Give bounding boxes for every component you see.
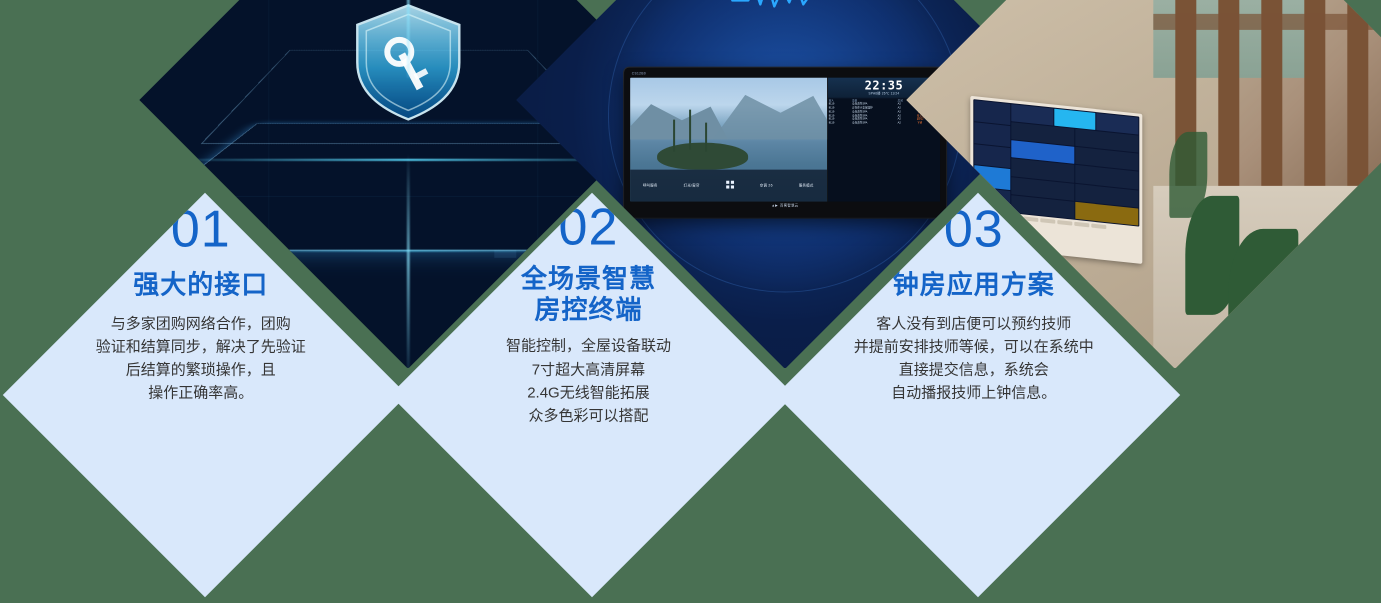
card-1-title-line: 强大的接口 (133, 269, 268, 300)
card-1-description: 与多家团购网络合作，团购 验证和结算同步，解决了先验证 后结算的繁琐操作，且 操… (96, 312, 306, 405)
card-2-title: 全场景智慧 房控终端 (521, 263, 656, 324)
panel-hardware-button[interactable] (1041, 218, 1056, 224)
card-2-desc-line: 智能控制，全屋设备联动 (506, 335, 671, 358)
table-row: 8119 全身养生SPA A2 下钟 (829, 122, 940, 125)
apps-grid-icon[interactable] (726, 182, 734, 191)
bar-button-1[interactable]: 灯光/窗帘 (684, 184, 700, 189)
card-3-title-line: 钟房应用方案 (893, 269, 1055, 300)
card-3-desc-line: 直接提交信息，系统会 (854, 358, 1094, 381)
room-control-tablet: CS12B0 呼叫服务 灯光/窗帘 (624, 68, 946, 218)
feature-diamonds-stage: CS12B0 呼叫服务 灯光/窗帘 (0, 0, 1381, 603)
card-1-desc-line: 与多家团购网络合作，团购 (96, 312, 306, 335)
heartbeat-icon (730, 0, 840, 17)
card-3-number: 03 (944, 203, 1004, 255)
clock-location: SPA6楼 (869, 92, 881, 96)
panel-screen (974, 100, 1140, 227)
card-2-title-line: 全场景智慧 (521, 263, 656, 294)
cell-item: 全身养生SPA (852, 122, 897, 125)
card-1-number: 01 (171, 203, 231, 255)
clock-date: 11/24 (891, 92, 900, 96)
panel-side-button[interactable] (975, 144, 1011, 169)
brand-mark-icon: ▲▶ (771, 204, 778, 208)
card-1-desc-line: 操作正确率高。 (96, 381, 306, 404)
panel-list-column (1076, 130, 1139, 226)
card-3-desc-line: 自动播报技师上钟信息。 (854, 381, 1094, 404)
card-3-title: 钟房应用方案 (893, 269, 1055, 300)
clock-temperature: 26℃ (882, 92, 890, 96)
wallpaper-scene: 呼叫服务 灯光/窗帘 空调 26 服 (630, 78, 827, 202)
panel-hardware-button[interactable] (1092, 224, 1107, 230)
cell-guest: 8119 (829, 122, 851, 125)
panel-side-button[interactable] (975, 101, 1011, 126)
panel-hardware-button[interactable] (1024, 217, 1039, 223)
panel-hardware-button[interactable] (1075, 222, 1090, 228)
card-1-desc-line: 后结算的繁琐操作，且 (96, 358, 306, 381)
brand-name: 百客智慧云 (780, 203, 798, 208)
bar-button-2[interactable]: 空调 26 (760, 184, 773, 189)
panel-list-grid (1012, 123, 1139, 226)
tablet-bottom-bar: 呼叫服务 灯光/窗帘 空调 26 服 (630, 170, 827, 202)
panel-hardware-button[interactable] (1058, 220, 1073, 226)
card-2-desc-line: 7寸超大高清屏幕 (506, 358, 671, 381)
panel-main-area (1012, 105, 1139, 226)
bar-button-3[interactable]: 服务模式 (799, 184, 814, 189)
clock-time: 22:35 (865, 80, 904, 92)
card-3-description: 客人没有到店便可以预约技师 并提前安排技师等候，可以在系统中 直接提交信息，系统… (854, 312, 1094, 405)
cell-room: A2 (898, 122, 916, 125)
card-1-title: 强大的接口 (133, 269, 268, 300)
card-2-desc-line: 2.4G无线智能拓展 (506, 381, 671, 404)
card-3-desc-line: 客人没有到店便可以预约技师 (854, 312, 1094, 335)
panel-side-button[interactable] (975, 123, 1011, 148)
tablet-screen: 呼叫服务 灯光/窗帘 空调 26 服 (630, 78, 940, 202)
clock-meta: SPA6楼 26℃ 11/24 (869, 93, 900, 97)
panel-list-column (1012, 123, 1075, 219)
panel-side-button-active[interactable] (975, 166, 1011, 191)
panel-hardware-button[interactable] (1007, 215, 1022, 221)
card-2-title-line: 房控终端 (521, 294, 656, 325)
card-2-description: 智能控制，全屋设备联动 7寸超大高清屏幕 2.4G无线智能拓展 众多色彩可以搭配 (506, 335, 671, 428)
card-1-desc-line: 验证和结算同步，解决了先验证 (96, 335, 306, 358)
tablet-footer-brand: ▲▶ 百客智慧云 (630, 202, 940, 209)
bar-button-0[interactable]: 呼叫服务 (643, 184, 658, 189)
card-3-desc-line: 并提前安排技师等候，可以在系统中 (854, 335, 1094, 358)
card-2-desc-line: 众多色彩可以搭配 (506, 404, 671, 427)
